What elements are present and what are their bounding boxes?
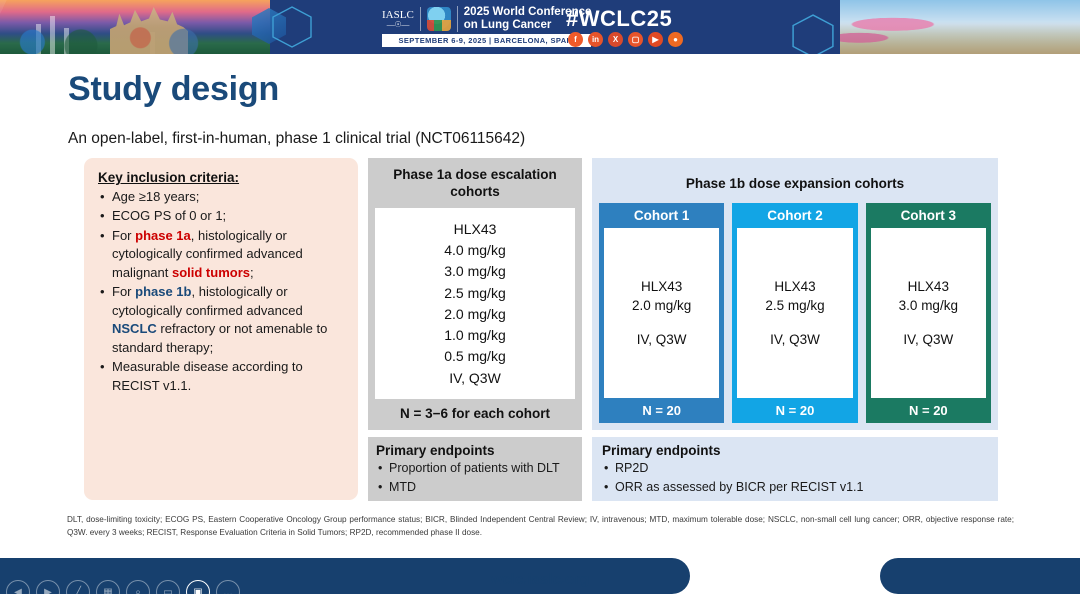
abbreviations-footnote: DLT, dose-limiting toxicity; ECOG PS, Ea… (67, 513, 1014, 539)
phase-1a-endpoints-box: Primary endpoints Proportion of patients… (368, 437, 582, 501)
key-inclusion-criteria-box: Key inclusion criteria: Age ≥18 years;EC… (84, 158, 358, 500)
cohort-dose: 2.5 mg/kg (765, 296, 824, 316)
cohort-card: Cohort 3HLX433.0 mg/kgIV, Q3WN = 20 (866, 203, 991, 423)
criteria-text-fragment: phase 1a (135, 228, 191, 243)
criteria-text-fragment: For (112, 228, 135, 243)
criteria-list-item: For phase 1a, histologically or cytologi… (98, 227, 344, 282)
phase-1a-header: Phase 1a dose escalation cohorts (375, 165, 575, 208)
phase-1b-panel: Phase 1b dose expansion cohorts Cohort 1… (592, 158, 998, 430)
phase-1b-endpoints-title: Primary endpoints (602, 443, 988, 458)
sagrada-familia-silhouette (110, 6, 188, 54)
cohort-dose: 2.0 mg/kg (632, 296, 691, 316)
criteria-list-item: ECOG PS of 0 or 1; (98, 207, 344, 225)
phase-1b-endpoint-item: ORR as assessed by BICR per RECIST v1.1 (602, 478, 988, 497)
youtube-icon[interactable]: ▶ (648, 32, 663, 47)
criteria-text-fragment: ; (250, 265, 254, 280)
iaslc-wordmark-text: IASLC (382, 9, 414, 21)
phase-1a-dose-row: 2.0 mg/kg (444, 304, 505, 324)
phase-1a-dose-list: HLX434.0 mg/kg3.0 mg/kg2.5 mg/kg2.0 mg/k… (375, 208, 575, 399)
iaslc-wordmark: IASLC —☉— (382, 10, 420, 29)
phase-1b-endpoints-box: Primary endpoints RP2DORR as assessed by… (592, 437, 998, 501)
criteria-list-item: Age ≥18 years; (98, 188, 344, 206)
phase-1b-endpoint-item: RP2D (602, 459, 988, 478)
criteria-heading: Key inclusion criteria: (98, 170, 344, 185)
phase-1b-cohorts: Cohort 1HLX432.0 mg/kgIV, Q3WN = 20Cohor… (599, 203, 991, 423)
criteria-text-fragment: NSCLC (112, 321, 157, 336)
cohort-body: HLX432.0 mg/kgIV, Q3W (604, 228, 719, 398)
slide-root: IASLC —☉— 2025 World Conference on Lung … (0, 0, 1080, 608)
phase-1a-endpoint-item: MTD (376, 478, 574, 497)
phase-1a-dose-row: 1.0 mg/kg (444, 325, 505, 345)
facebook-icon[interactable]: f (568, 32, 583, 47)
criteria-text-fragment: For (112, 284, 135, 299)
logo-divider (420, 7, 421, 31)
cohort-label: Cohort 1 (599, 203, 724, 228)
next-slide-button[interactable]: ▶ (36, 580, 60, 604)
phase-1a-dose-row: 4.0 mg/kg (444, 240, 505, 260)
social-links[interactable]: f in X ▢ ▶ ● (568, 32, 683, 47)
phase-1a-dose-row: 0.5 mg/kg (444, 346, 505, 366)
conference-hashtag: #WCLC25 (566, 6, 672, 32)
cohort-route: IV, Q3W (770, 330, 820, 350)
page-title: Study design (68, 70, 279, 109)
phase-1b-endpoints-list: RP2DORR as assessed by BICR per RECIST v… (602, 459, 988, 497)
cohort-label: Cohort 3 (866, 203, 991, 228)
banner-photo-barcelona-left (0, 0, 270, 54)
phase-1a-dose-row: 2.5 mg/kg (444, 283, 505, 303)
cohort-dose: 3.0 mg/kg (899, 296, 958, 316)
conference-banner: IASLC —☉— 2025 World Conference on Lung … (0, 0, 1080, 54)
cohort-drug: HLX43 (908, 277, 949, 297)
criteria-text-fragment: solid tumors (172, 265, 250, 280)
criteria-text-fragment: ECOG PS of 0 or 1; (112, 208, 226, 223)
cohort-card: Cohort 1HLX432.0 mg/kgIV, Q3WN = 20 (599, 203, 724, 423)
cohort-sample-size: N = 20 (599, 398, 724, 423)
instagram-icon[interactable]: ▢ (628, 32, 643, 47)
phase-1a-panel: Phase 1a dose escalation cohorts HLX434.… (368, 158, 582, 430)
iaslc-logo-block: IASLC —☉— 2025 World Conference on Lung … (382, 6, 591, 47)
banner-hexagon-outline-left (272, 6, 312, 48)
criteria-text-fragment: Age ≥18 years; (112, 189, 199, 204)
more-options-button[interactable]: … (216, 580, 240, 604)
cohort-route: IV, Q3W (637, 330, 687, 350)
phase-1a-endpoints-list: Proportion of patients with DLTMTD (376, 459, 574, 497)
cohort-sample-size: N = 20 (866, 398, 991, 423)
iaslc-emblem: —☉— (382, 21, 414, 29)
page-subtitle: An open-label, first-in-human, phase 1 c… (68, 130, 525, 148)
cohort-label: Cohort 2 (732, 203, 857, 228)
phase-1a-dose-row: HLX43 (454, 219, 497, 239)
linkedin-icon[interactable]: in (588, 32, 603, 47)
cohort-sample-size: N = 20 (732, 398, 857, 423)
criteria-list: Age ≥18 years;ECOG PS of 0 or 1;For phas… (98, 188, 344, 395)
criteria-list-item: For phase 1b, histologically or cytologi… (98, 283, 344, 357)
cohort-route: IV, Q3W (903, 330, 953, 350)
criteria-text-fragment: Measurable disease according to RECIST v… (112, 359, 303, 392)
cohort-body: HLX432.5 mg/kgIV, Q3W (737, 228, 852, 398)
banner-hexagon-outline-right (790, 14, 836, 54)
slide-overview-button[interactable]: ▦ (96, 580, 120, 604)
x-twitter-icon[interactable]: X (608, 32, 623, 47)
captions-button[interactable]: ▭ (156, 580, 180, 604)
cohort-body: HLX433.0 mg/kgIV, Q3W (871, 228, 986, 398)
criteria-list-item: Measurable disease according to RECIST v… (98, 358, 344, 395)
previous-slide-button[interactable]: ◀ (6, 580, 30, 604)
criteria-text-fragment: phase 1b (135, 284, 191, 299)
phase-1a-dose-row: 3.0 mg/kg (444, 261, 505, 281)
phase-1a-sample-size: N = 3−6 for each cohort (375, 399, 575, 423)
globe-icon (427, 7, 451, 31)
cohort-card: Cohort 2HLX432.5 mg/kgIV, Q3WN = 20 (732, 203, 857, 423)
camera-video-button[interactable]: ▣ (186, 580, 210, 604)
cohort-drug: HLX43 (641, 277, 682, 297)
conference-date-location: SEPTEMBER 6-9, 2025 | BARCELONA, SPAIN (382, 34, 591, 47)
presentation-controls[interactable]: ◀▶╱▦⌕▭▣… (6, 580, 240, 604)
pen-annotate-button[interactable]: ╱ (66, 580, 90, 604)
phase-1a-endpoint-item: Proportion of patients with DLT (376, 459, 574, 478)
zoom-search-button[interactable]: ⌕ (126, 580, 150, 604)
phase-1b-header: Phase 1b dose expansion cohorts (599, 165, 991, 203)
phase-1a-dose-row: IV, Q3W (449, 368, 501, 388)
banner-photo-barcelona-right (840, 0, 1080, 54)
phase-1a-endpoints-title: Primary endpoints (376, 443, 574, 458)
wechat-icon[interactable]: ● (668, 32, 683, 47)
cohort-drug: HLX43 (774, 277, 815, 297)
